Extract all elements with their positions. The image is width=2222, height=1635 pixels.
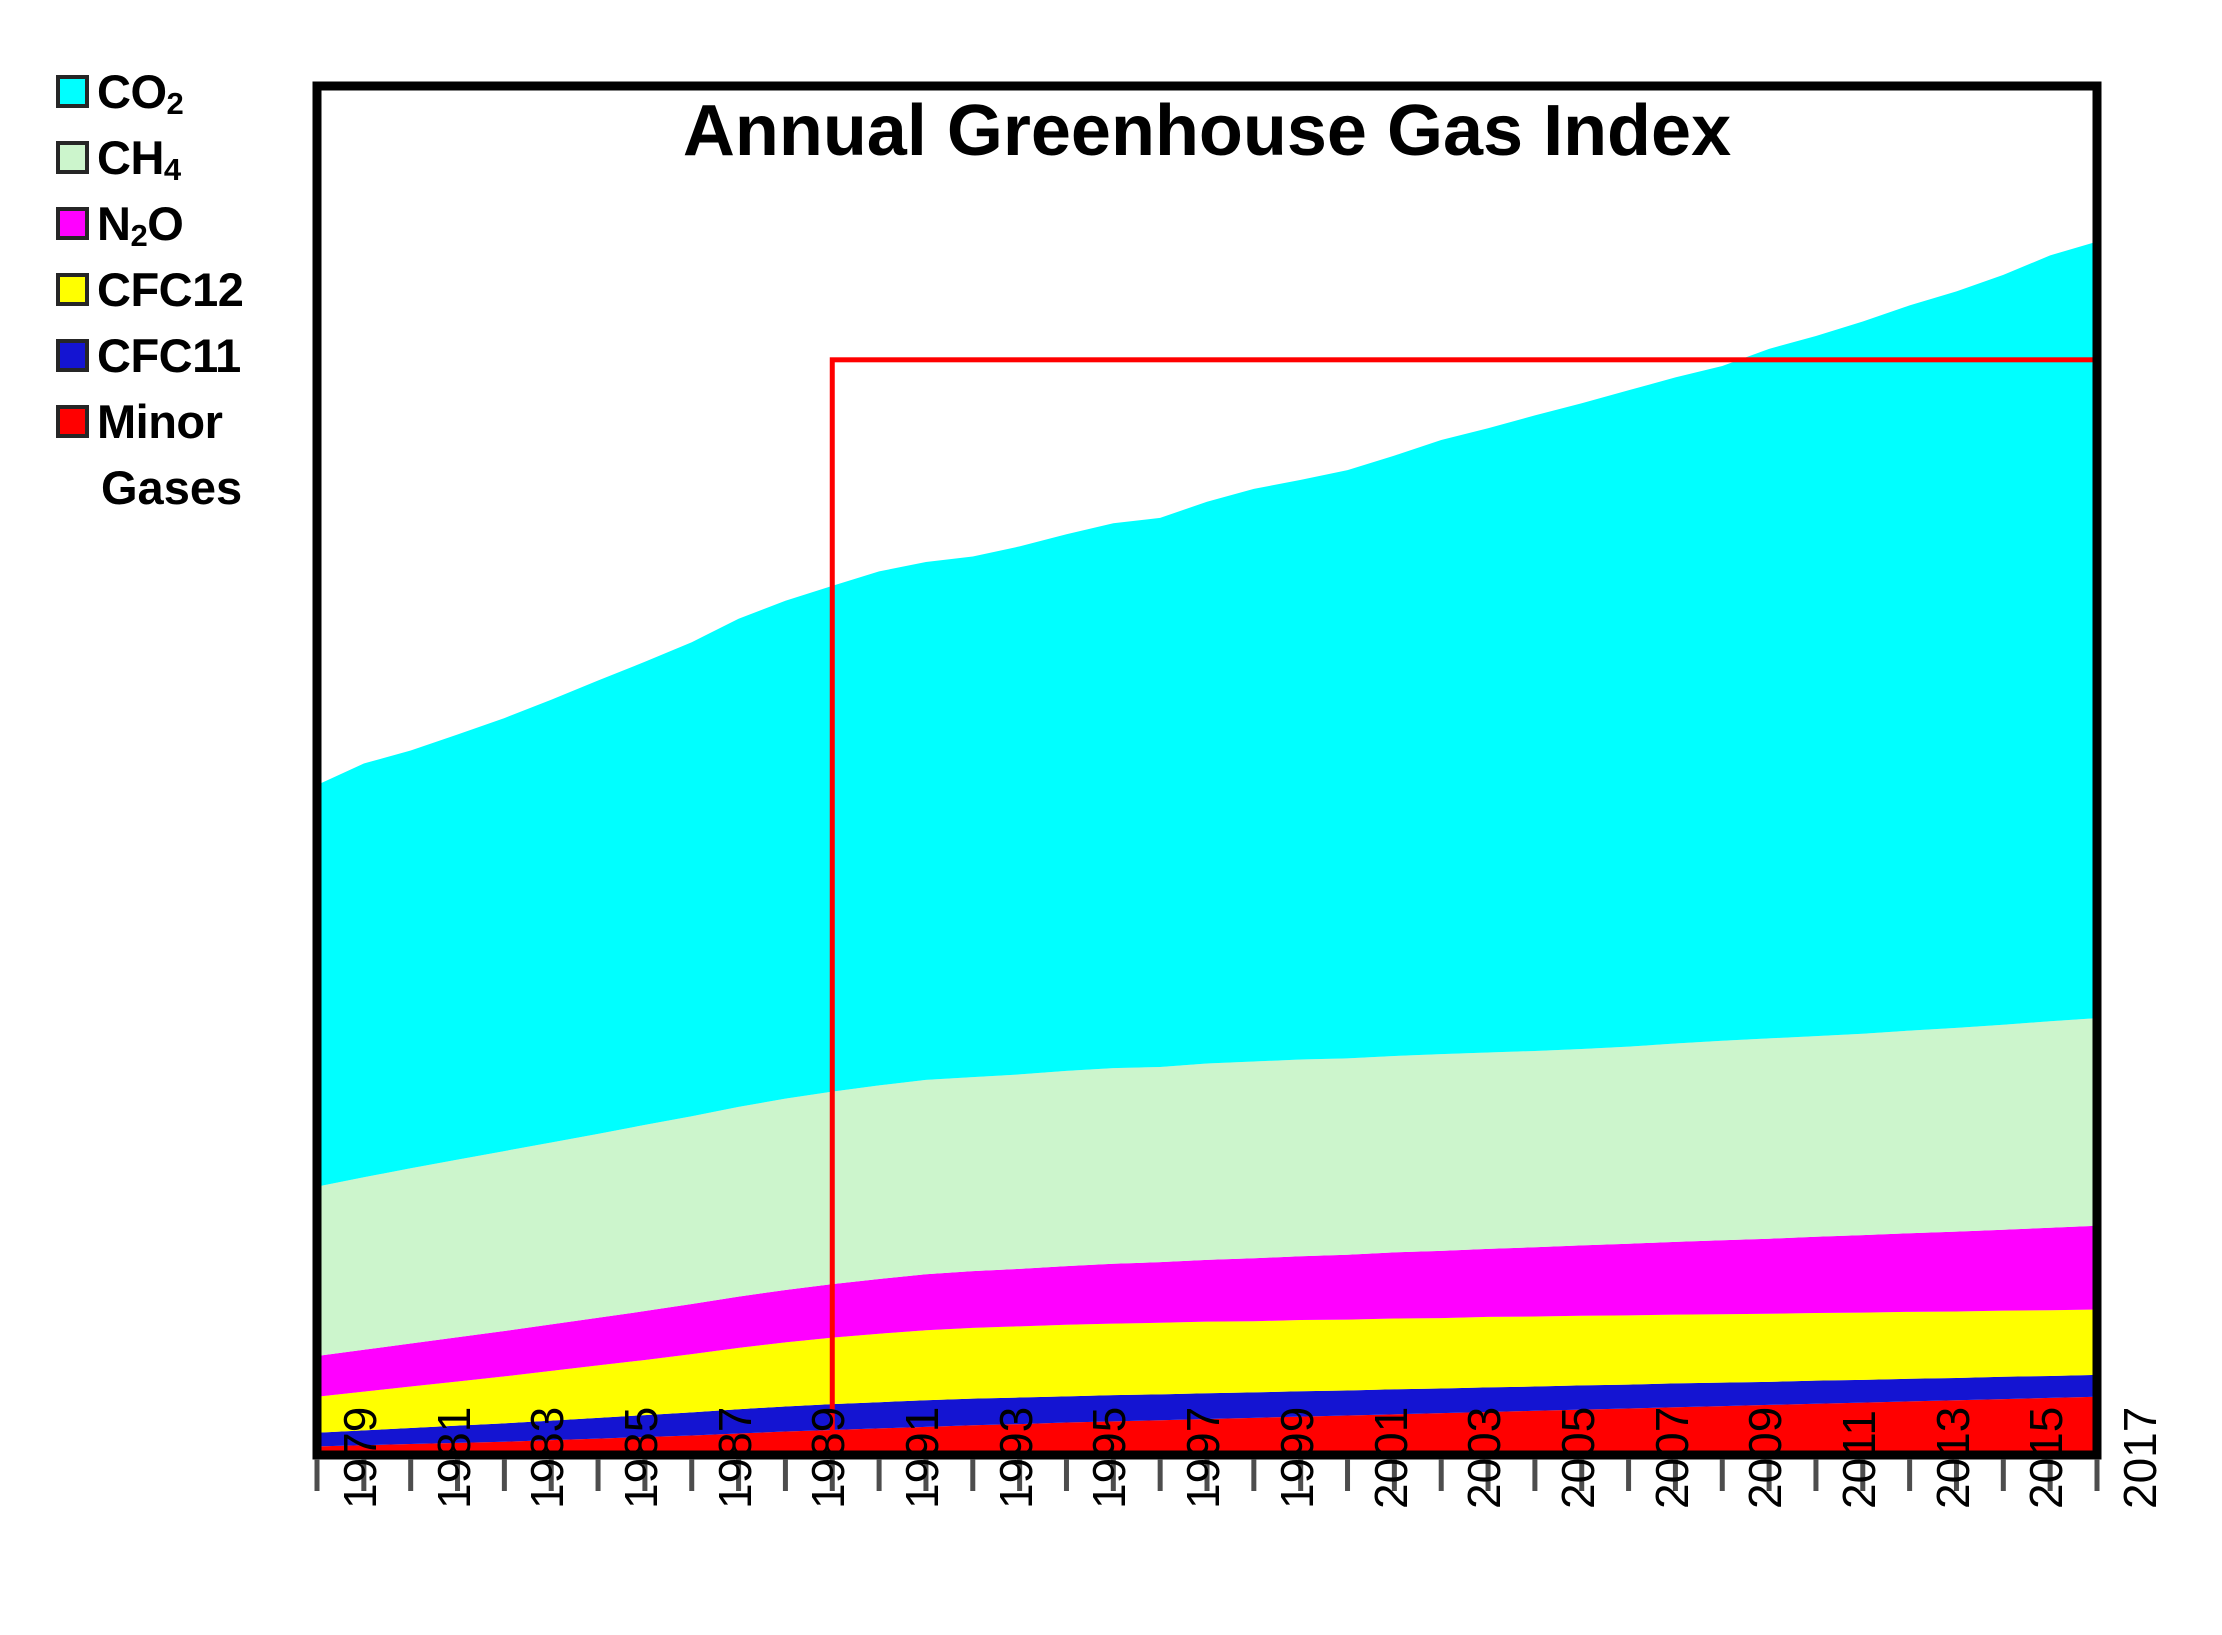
x-axis-tick-label: 1981 (427, 1407, 481, 1509)
x-axis-tick-label: 2005 (1551, 1407, 1605, 1509)
stacked-area-chart (0, 0, 2222, 1635)
x-axis-tick-label: 2001 (1364, 1407, 1418, 1509)
x-axis-tick-label: 1985 (614, 1407, 668, 1509)
x-axis-tick-label: 1993 (989, 1407, 1043, 1509)
x-axis-tick-label: 1995 (1082, 1407, 1136, 1509)
x-axis-tick-label: 2003 (1457, 1407, 1511, 1509)
x-axis-tick-label: 1987 (708, 1407, 762, 1509)
chart-title: Annual Greenhouse Gas Index (317, 90, 2097, 172)
x-axis-tick-label: 1979 (333, 1407, 387, 1509)
x-axis-tick-label: 2009 (1738, 1407, 1792, 1509)
x-axis-tick-label: 2013 (1926, 1407, 1980, 1509)
x-axis-tick-label: 2011 (1832, 1410, 1886, 1509)
chart-plot-area: Annual Greenhouse Gas Index 197919811983… (0, 0, 2222, 1635)
x-axis-tick-label: 1983 (520, 1407, 574, 1509)
x-axis-tick-label: 1997 (1176, 1407, 1230, 1509)
x-axis-tick-label: 2015 (2019, 1407, 2073, 1509)
x-axis-tick-label: 1989 (801, 1407, 855, 1509)
x-axis-tick-label: 1999 (1270, 1407, 1324, 1509)
x-axis-tick-label: 1991 (895, 1407, 949, 1509)
x-axis-tick-label: 2017 (2113, 1407, 2167, 1509)
x-axis-tick-label: 2007 (1645, 1407, 1699, 1509)
